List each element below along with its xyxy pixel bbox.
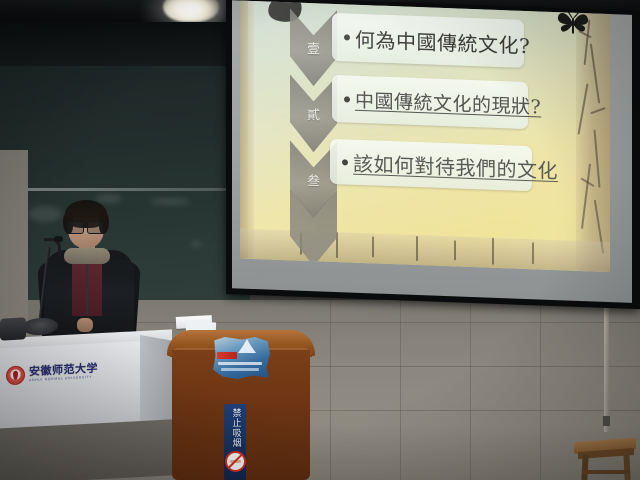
wooden-stool-rail [582, 470, 630, 474]
tile-seam [470, 300, 471, 480]
step-marker-1: 壹 [307, 38, 320, 57]
no-smoking-sign: 禁止吸烟 [224, 404, 246, 480]
table-under-shadow [0, 419, 174, 480]
step-chevron-1: 壹 [290, 8, 337, 87]
bullet-dot-icon [344, 34, 350, 40]
bamboo-twig [581, 163, 591, 229]
tile-seam [330, 300, 331, 480]
presentation-slide: 壹 貳 叁 何為中國傳統文化? 中國傳統文化的現狀? [240, 1, 610, 273]
slide-bullet-text-2: 中國傳統文化的現狀? [355, 86, 541, 120]
bamboo-twig [578, 83, 589, 134]
classroom-photo: 壹 貳 叁 何為中國傳統文化? 中國傳統文化的現狀? [0, 0, 640, 480]
sticker-red-banner [217, 352, 237, 359]
bamboo-twig [593, 130, 600, 188]
step-marker-2: 貳 [307, 104, 320, 123]
slide-bullet-3: 該如何對待我們的文化 [330, 139, 532, 191]
slide-bullet-text-3: 該如何對待我們的文化 [353, 148, 558, 185]
step-marker-3: 叁 [307, 170, 320, 189]
bamboo-twig [590, 44, 600, 104]
microphone-capsule-icon [54, 236, 63, 242]
fence-post [372, 236, 374, 257]
wall-conduit [604, 300, 609, 432]
slide-border-right [576, 13, 610, 272]
table-bag [0, 317, 26, 340]
chalk-smudge [150, 198, 190, 205]
slide-border-left [240, 1, 254, 260]
slide-bullet-text-1: 何為中國傳統文化? [355, 23, 530, 58]
tile-seam [540, 300, 541, 480]
bullet-dot-icon [342, 159, 348, 165]
butterfly-icon [556, 10, 590, 37]
presenter-scarf [64, 248, 110, 264]
bullet-dot-icon [344, 96, 350, 102]
cigarette-icon [230, 460, 241, 463]
slide-bullet-2: 中國傳統文化的現狀? [332, 75, 528, 129]
projection-screen: 壹 貳 叁 何為中國傳統文化? 中國傳統文化的現狀? [226, 0, 640, 309]
screen-surface: 壹 貳 叁 何為中國傳統文化? 中國傳統文化的現狀? [232, 0, 632, 303]
chalk-smudge [190, 241, 202, 247]
presenter-coat-zipper [86, 262, 88, 314]
chalk-smudge [96, 194, 122, 203]
slide-bullet-1: 何為中國傳統文化? [332, 13, 524, 68]
fence-post [532, 242, 534, 264]
chalk-smudge [28, 206, 62, 222]
presenter-hands [77, 318, 93, 332]
no-smoking-icon [225, 451, 246, 472]
eyeglasses-icon [67, 221, 105, 232]
eyeglass-lens-right [87, 221, 104, 234]
wooden-stool-leg [581, 455, 588, 480]
no-smoking-label: 禁止吸烟 [230, 408, 241, 448]
fence-post [492, 238, 494, 265]
fence-post [416, 236, 418, 261]
university-seal-icon [6, 365, 25, 385]
chalk-rail [0, 188, 250, 191]
sticker-text-line-2 [221, 368, 259, 371]
conduit-junction-box [603, 416, 610, 426]
eyeglass-lens-left [67, 221, 84, 234]
tile-seam [400, 300, 401, 480]
sticker-text-line-1 [218, 362, 262, 365]
bamboo-leaf [590, 107, 606, 114]
fence-post [454, 240, 456, 260]
